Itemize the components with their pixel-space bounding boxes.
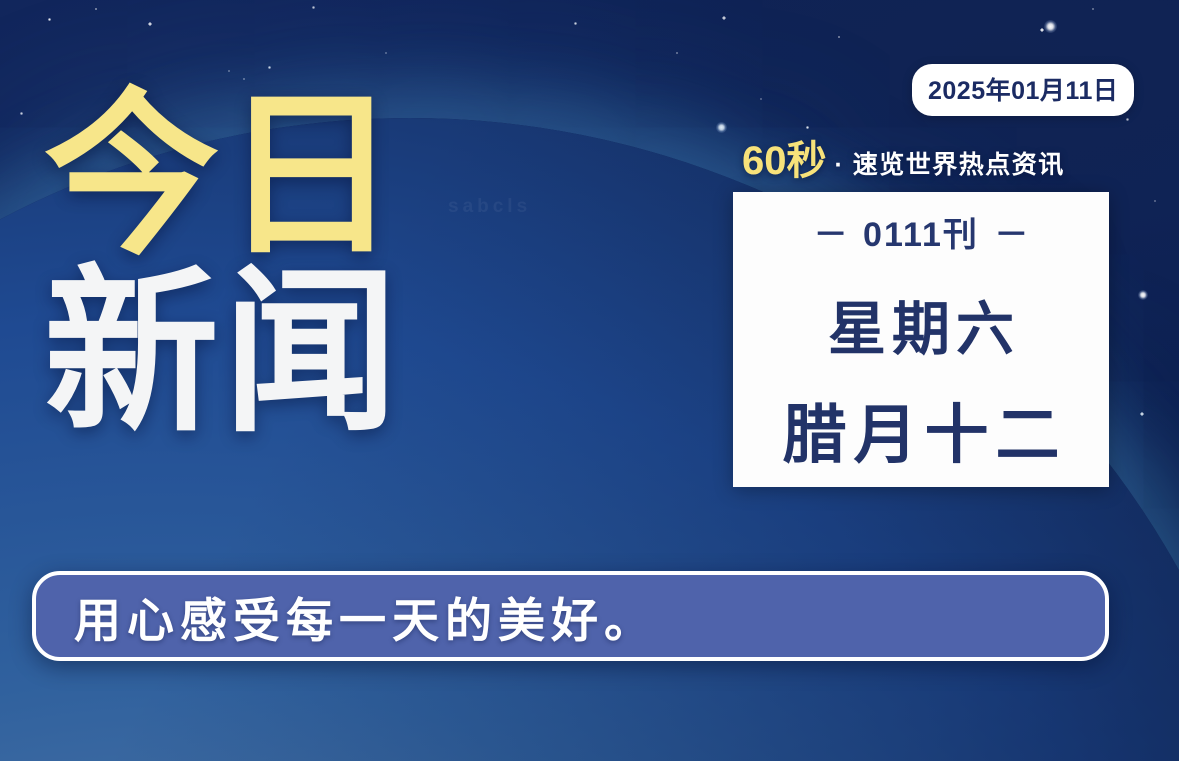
news-poster: sabcls 今日 新闻 2025年01月11日 60秒 · 速览世界热点资讯 … xyxy=(0,0,1179,761)
issue-info-card: － 0111刊 － 星期六 腊月十二 xyxy=(733,192,1109,487)
page-title-line-2: 新闻 xyxy=(44,271,402,437)
page-title-line-1: 今日 xyxy=(44,94,402,260)
weekday-label: 星期六 xyxy=(822,282,1020,366)
page-title: 今日 新闻 xyxy=(44,96,402,436)
issue-dash-right: － xyxy=(990,216,1032,254)
issue-number: 0111刊 xyxy=(863,216,979,254)
issue-dash-left: － xyxy=(810,216,852,254)
slogan-bar: 用心感受每一天的美好。 xyxy=(32,571,1109,661)
lunar-date-label: 腊月十二 xyxy=(776,384,1067,476)
bright-star-icon xyxy=(1044,20,1057,33)
issue-number-row: － 0111刊 － xyxy=(810,207,1033,256)
slogan-text: 用心感受每一天的美好。 xyxy=(36,582,657,651)
date-badge: 2025年01月11日 xyxy=(912,64,1134,116)
tagline-description: · 速览世界热点资讯 xyxy=(835,153,1065,181)
tagline: 60秒 · 速览世界热点资讯 xyxy=(742,141,1065,181)
bright-star-icon xyxy=(1138,290,1148,300)
bright-star-icon xyxy=(716,122,727,133)
tagline-seconds: 60秒 xyxy=(742,141,827,181)
